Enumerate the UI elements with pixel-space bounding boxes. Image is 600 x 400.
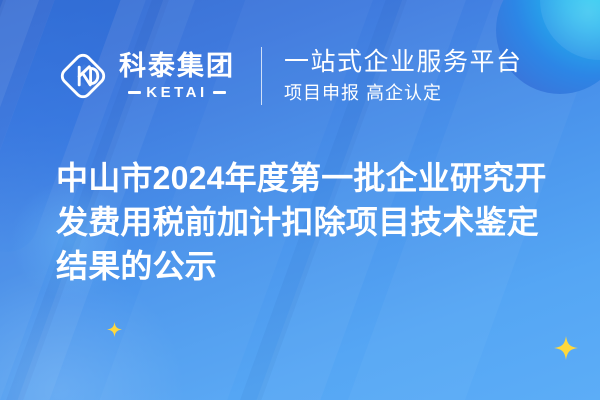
tagline-main-text: 一站式企业服务平台 xyxy=(284,48,523,77)
header-tagline: 一站式企业服务平台 项目申报 高企认定 xyxy=(284,48,523,103)
ketai-diamond-kd-logo-icon xyxy=(56,49,110,103)
logo-dash-left-icon xyxy=(128,91,141,94)
tagline-sub-text: 项目申报 高企认定 xyxy=(284,83,523,104)
banner-header: 科泰集团 KETAI 一站式企业服务平台 项目申报 高企认定 xyxy=(56,44,523,108)
logo-wordmark: 科泰集团 KETAI xyxy=(119,52,235,99)
announcement-banner: 科泰集团 KETAI 一站式企业服务平台 项目申报 高企认定 中山市2024年度… xyxy=(0,0,600,400)
page-title: 中山市2024年度第一批企业研究开发费用税前加计扣除项目技术鉴定结果的公示 xyxy=(56,156,556,288)
logo-english-row: KETAI xyxy=(128,85,225,100)
logo-company-name-en: KETAI xyxy=(146,85,207,100)
logo-company-name-cn: 科泰集团 xyxy=(119,52,235,80)
header-divider xyxy=(261,47,262,105)
logo-dash-right-icon xyxy=(213,91,226,94)
